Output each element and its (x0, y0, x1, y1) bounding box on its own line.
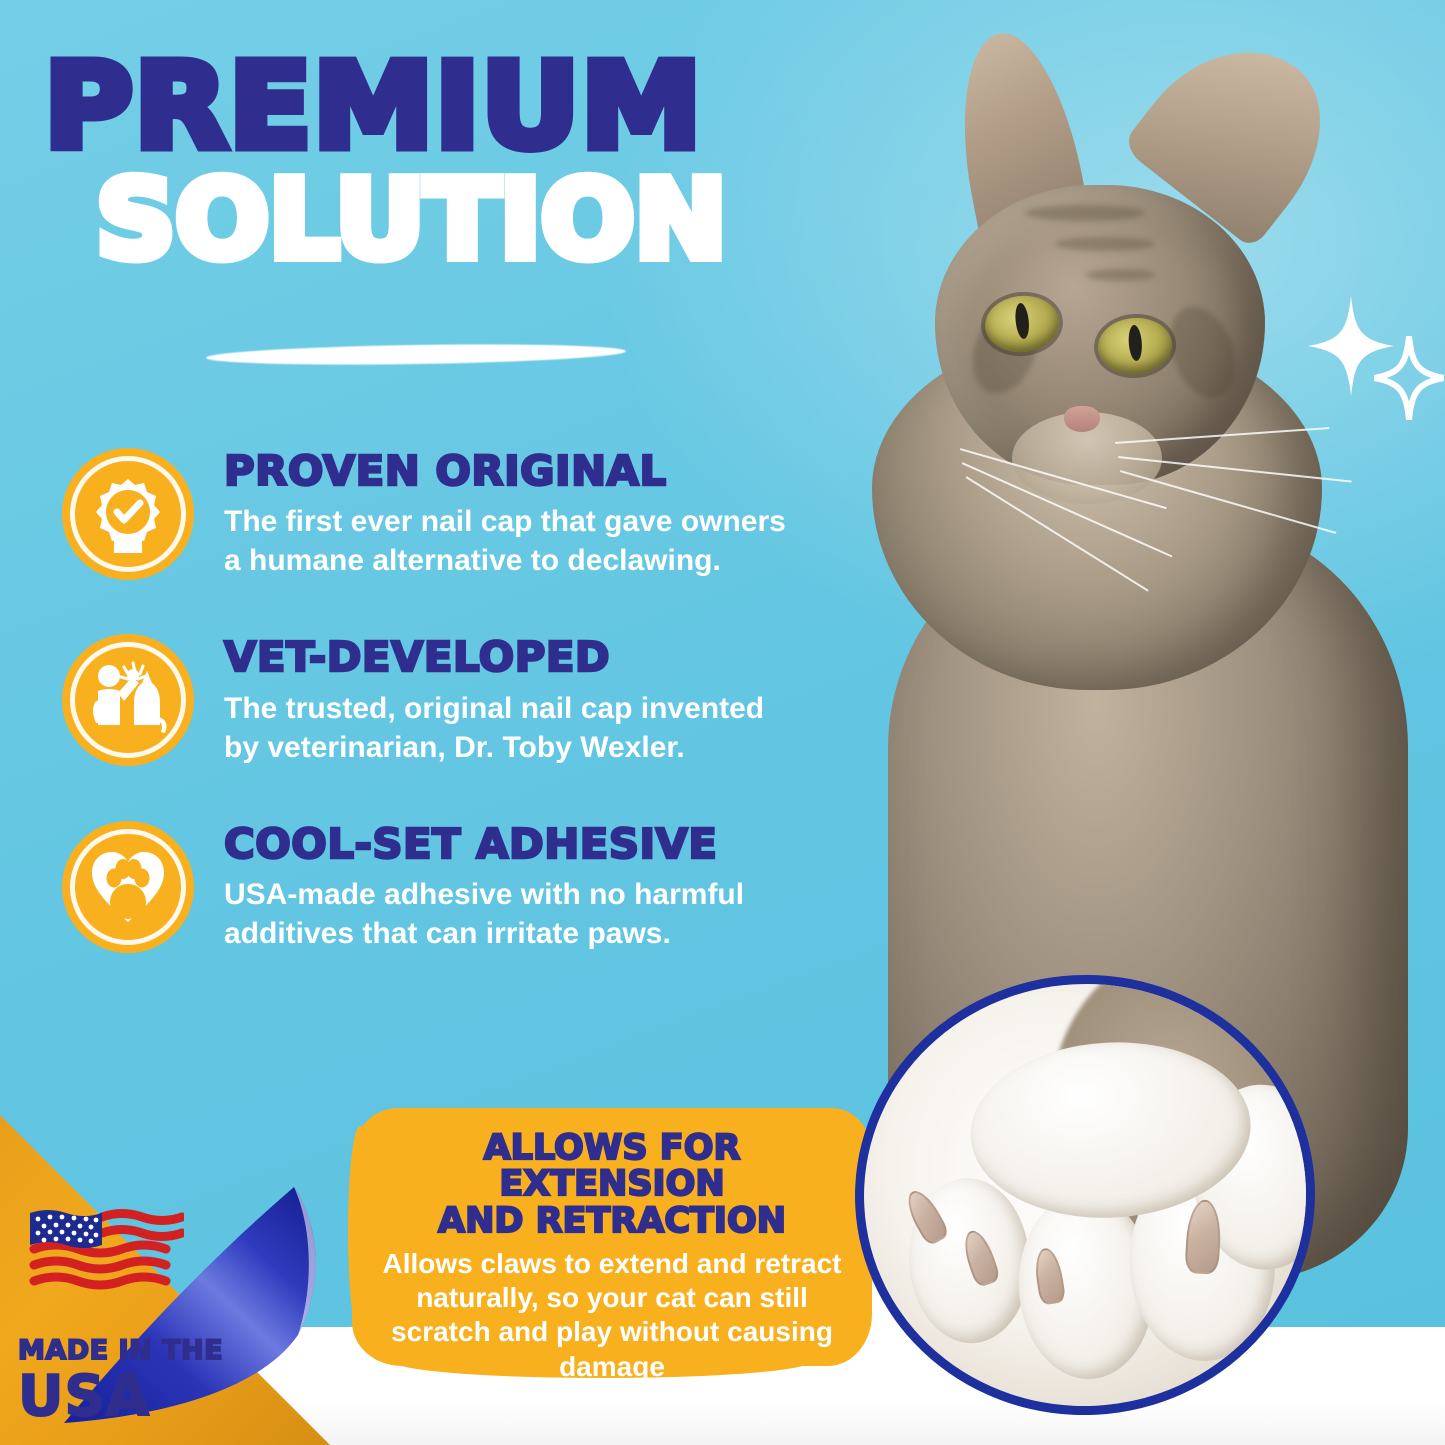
feature-description: USA-made adhesive with no harmful additi… (224, 875, 804, 953)
headline-line-2: SOLUTION (96, 166, 890, 276)
heart-paw-icon (62, 821, 194, 953)
made-in-usa-text: MADE IN THE USA (18, 1337, 248, 1427)
feature-text-block: COOL-SET ADHESIVE USA-made adhesive with… (194, 821, 804, 953)
cat-pupil-left (1014, 302, 1031, 339)
vet-highfive-cat-icon (62, 634, 194, 766)
usa-flag-icon (24, 1207, 184, 1295)
made-in-usa-badge: MADE IN THE USA (0, 1115, 330, 1445)
feature-description: The trusted, original nail cap invented … (224, 689, 804, 767)
feature-text-block: VET-DEVELOPED The trusted, original nail… (194, 634, 804, 766)
feature-description: The first ever nail cap that gave owners… (224, 502, 804, 580)
cat-nose (1064, 406, 1100, 432)
feature-title: PROVEN ORIGINAL (224, 450, 816, 493)
callout-title: ALLOWS FOR EXTENSION AND RETRACTION (382, 1130, 842, 1239)
sparkle-outline-icon (1374, 336, 1444, 420)
headline-underline-swoosh (206, 342, 626, 368)
product-infographic-poster: PREMIUM SOLUTION PROVEN ORIGINAL Th (0, 0, 1445, 1445)
feature-item-proven-original: PROVEN ORIGINAL The first ever nail cap … (62, 448, 822, 580)
callout-title-line-1: ALLOWS FOR EXTENSION (484, 1128, 741, 1204)
feature-item-vet-developed: VET-DEVELOPED The trusted, original nail… (62, 634, 822, 766)
made-in-usa-line-1: MADE IN THE (18, 1337, 248, 1364)
headline-line-1: PREMIUM (44, 52, 899, 162)
extension-retraction-callout: ALLOWS FOR EXTENSION AND RETRACTION Allo… (352, 1108, 872, 1366)
callout-title-line-2: AND RETRACTION (438, 1201, 786, 1241)
feature-list: PROVEN ORIGINAL The first ever nail cap … (62, 448, 822, 1007)
cat-pupil-right (1128, 324, 1143, 361)
award-ribbon-icon (62, 448, 194, 580)
feature-item-cool-set-adhesive: COOL-SET ADHESIVE USA-made adhesive with… (62, 821, 822, 953)
feature-text-block: PROVEN ORIGINAL The first ever nail cap … (194, 448, 804, 580)
feature-title: VET-DEVELOPED (224, 636, 816, 679)
feature-title: COOL-SET ADHESIVE (224, 823, 816, 866)
made-in-usa-line-2: USA (18, 1368, 248, 1427)
headline-block: PREMIUM SOLUTION (44, 52, 874, 276)
callout-body-text: Allows claws to extend and retract natur… (382, 1247, 842, 1384)
